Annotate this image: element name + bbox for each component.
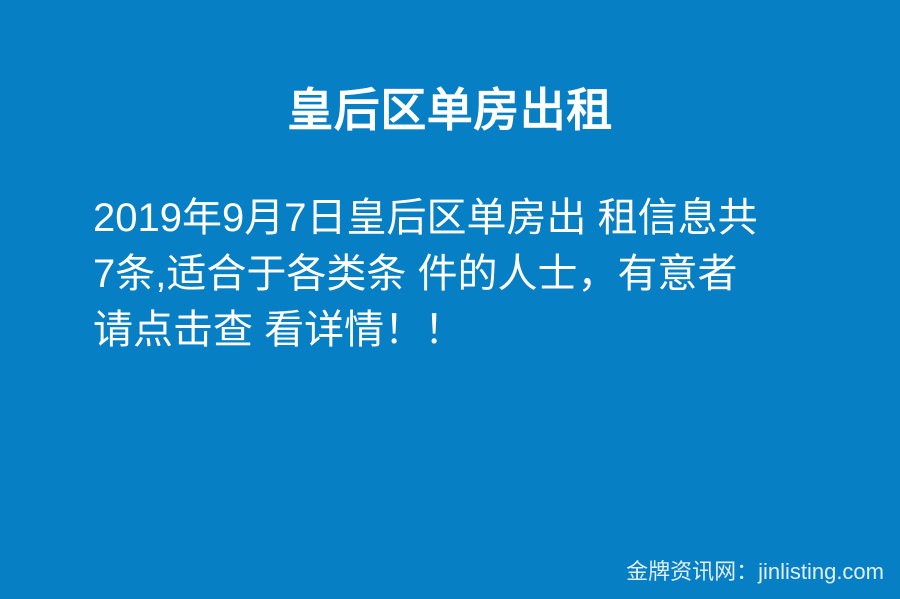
body-line-1: 2019年9月7日皇后区单房出 租信息共 xyxy=(93,190,813,246)
body-line-2: 7条,适合于各类条 件的人士，有意者 xyxy=(93,246,813,302)
footer-block: 金牌资讯网：jinlisting.com xyxy=(626,557,884,587)
body-line-3: 请点击查 看详情！！ xyxy=(93,302,813,358)
site-watermark: 金牌资讯网：jinlisting.com xyxy=(626,557,884,587)
title-block: 皇后区单房出租 xyxy=(0,82,900,138)
body-text-block: 2019年9月7日皇后区单房出 租信息共 7条,适合于各类条 件的人士，有意者 … xyxy=(93,190,813,358)
page-title: 皇后区单房出租 xyxy=(287,82,613,138)
poster-canvas: 皇后区单房出租 2019年9月7日皇后区单房出 租信息共 7条,适合于各类条 件… xyxy=(0,0,900,599)
